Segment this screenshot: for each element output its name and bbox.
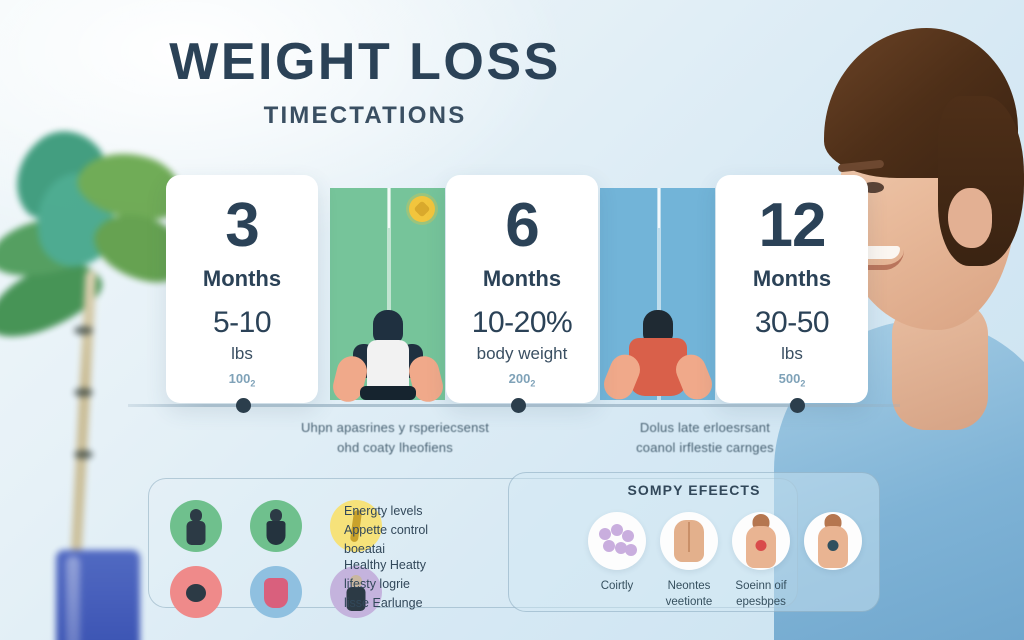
benefit-line: Energty levels — [344, 502, 514, 521]
side-effect-item[interactable]: Coirtly — [578, 512, 656, 594]
side-effect-label: Neontes veetionte — [650, 578, 728, 610]
tick-subscript: 2 — [250, 379, 255, 389]
side-effect-line: Coirtly — [578, 578, 656, 594]
figure-base — [360, 386, 416, 400]
tick-value: 200 — [509, 371, 531, 386]
caption-line: Uhpn apasrines y rsperiecsenst — [270, 418, 520, 438]
spine-line — [688, 522, 690, 552]
torso-dark-mark-icon — [804, 512, 862, 570]
tshirt-icon[interactable] — [250, 566, 302, 618]
milestone-unit: lbs — [781, 344, 803, 364]
side-effect-line: epesbpes — [722, 594, 800, 610]
milestone-tick: 2002 — [509, 371, 536, 389]
milestone-tick: 5002 — [779, 371, 806, 389]
benefit-text-block: Healthy Heatty lifesty logrie lisse Earl… — [344, 556, 514, 612]
milestone-number: 6 — [505, 197, 538, 254]
page-title: WEIGHT LOSS — [15, 36, 715, 88]
milestone-amount: 5-10 — [213, 306, 271, 340]
side-effect-item[interactable]: Neontes veetionte — [650, 512, 728, 610]
person-ear — [948, 188, 992, 248]
panel-wire — [388, 188, 390, 228]
timeline-marker[interactable] — [511, 398, 526, 413]
figure-head — [373, 310, 403, 344]
milestone-unit: lbs — [231, 344, 253, 364]
milestone-amount: 10-20% — [472, 306, 572, 340]
stem-node — [74, 388, 93, 397]
tick-subscript: 2 — [800, 379, 805, 389]
cell-cluster-icon — [588, 512, 646, 570]
vase-highlight — [66, 556, 80, 640]
timeline-marker[interactable] — [790, 398, 805, 413]
milestone-period: Months — [483, 266, 561, 292]
milestone-number: 3 — [225, 197, 258, 254]
panel-wire — [658, 188, 660, 228]
milestone-tick: 1002 — [229, 371, 256, 389]
milestone-card-3-months[interactable]: 3 Months 5-10 lbs 1002 — [166, 175, 318, 403]
tick-value: 100 — [229, 371, 251, 386]
timeline-caption: Dolus late erloesrsant coanol irflestie … — [580, 418, 830, 458]
milestone-number: 12 — [759, 197, 826, 254]
side-effect-line: Soeinn oif — [722, 578, 800, 594]
standing-person-illustration — [603, 304, 713, 400]
blue-illustration-panel — [600, 188, 715, 400]
side-effect-label: Soeinn oif epesbpes — [722, 578, 800, 610]
tick-value: 500 — [779, 371, 801, 386]
header: WEIGHT LOSS TIMECTATIONS — [15, 36, 715, 130]
tick-subscript: 2 — [530, 379, 535, 389]
benefit-line: lifesty logrie — [344, 575, 514, 594]
meditating-person-icon[interactable] — [250, 500, 302, 552]
milestone-card-6-months[interactable]: 6 Months 10-20% body weight 2002 — [446, 175, 598, 403]
benefit-line: Appette control — [344, 521, 514, 540]
food-plate-icon[interactable] — [170, 566, 222, 618]
milestone-card-12-months[interactable]: 12 Months 30-50 lbs 5002 — [716, 175, 868, 403]
side-effects-title: SOMPY EFEECTS — [508, 482, 880, 498]
stem-node — [74, 326, 93, 335]
torso-heart-icon — [732, 512, 790, 570]
achievement-badge-icon — [409, 196, 435, 222]
benefit-line: Healthy Heatty — [344, 556, 514, 575]
milestone-period: Months — [753, 266, 831, 292]
timeline-axis — [128, 404, 900, 407]
caption-line: ohd coaty lheofiens — [270, 438, 520, 458]
milestone-amount: 30-50 — [755, 306, 829, 340]
cluster-shape — [597, 524, 637, 558]
side-effect-label: Coirtly — [578, 578, 656, 594]
heart-mark-icon — [756, 540, 767, 551]
timeline-marker[interactable] — [236, 398, 251, 413]
page-subtitle: TIMECTATIONS — [15, 102, 715, 130]
standing-person-icon[interactable] — [170, 500, 222, 552]
caption-line: Dolus late erloesrsant — [580, 418, 830, 438]
benefit-text-block: Energty levels Appette control boeatai — [344, 502, 514, 558]
side-effect-line: Neontes — [650, 578, 728, 594]
caption-line: coanol irflestie carnges — [580, 438, 830, 458]
timeline-caption: Uhpn apasrines y rsperiecsenst ohd coaty… — [270, 418, 520, 458]
green-illustration-panel — [330, 188, 445, 400]
back-torso-icon — [660, 512, 718, 570]
dark-mark-icon — [828, 540, 839, 551]
benefit-line: lisse Earlunge — [344, 594, 514, 613]
side-effect-item[interactable] — [794, 512, 872, 578]
milestone-unit: body weight — [477, 344, 568, 364]
side-effect-item[interactable]: Soeinn oif epesbpes — [722, 512, 800, 610]
stem-node — [74, 450, 93, 459]
figure-torso — [367, 340, 409, 390]
exercising-person-illustration — [333, 304, 443, 400]
side-effect-line: veetionte — [650, 594, 728, 610]
milestone-period: Months — [203, 266, 281, 292]
